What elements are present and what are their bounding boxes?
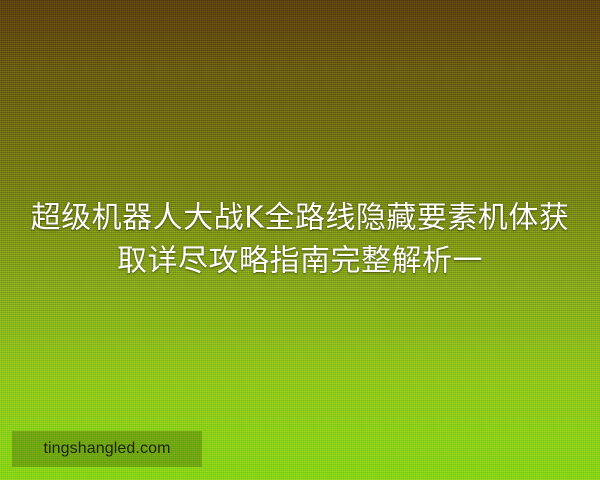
- thumbnail-card: 超级机器人大战K全路线隐藏要素机体获取详尽攻略指南完整解析一 tingshang…: [0, 0, 600, 480]
- headline-block: 超级机器人大战K全路线隐藏要素机体获取详尽攻略指南完整解析一: [0, 197, 600, 282]
- watermark-badge: tingshangled.com: [12, 431, 202, 467]
- page-title: 超级机器人大战K全路线隐藏要素机体获取详尽攻略指南完整解析一: [18, 197, 582, 282]
- watermark-site-label: tingshangled.com: [43, 441, 170, 457]
